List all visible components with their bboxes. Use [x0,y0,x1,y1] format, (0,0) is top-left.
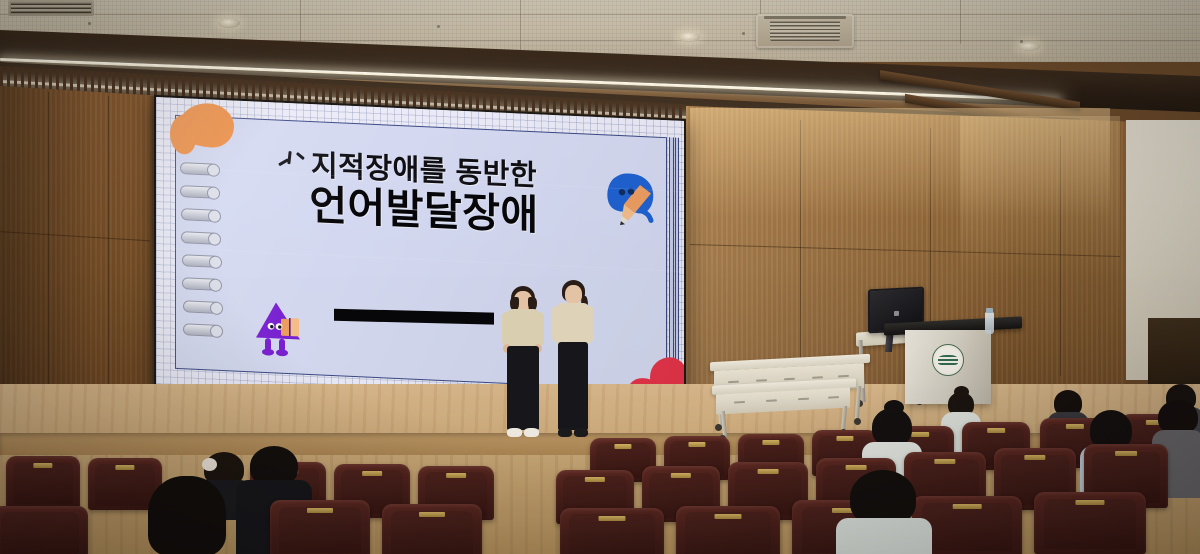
wall-panel-left [0,86,160,426]
ceiling-tile-seam [960,0,961,44]
ceiling-tile-seam [520,0,521,52]
purple-triangle-book-character-icon [252,297,314,358]
seat-number-plate [688,442,705,447]
presenter-pants [507,346,539,430]
audience-member [142,476,234,554]
wall-panel-seam [108,96,109,408]
seat-number-plate [446,473,466,478]
ceiling-fixture-dot [1020,40,1023,43]
presenter-shoe [524,428,539,437]
presenter-arm [502,312,511,346]
audience-member [836,470,932,554]
ceiling-fixture-dot [88,22,91,25]
seat-number-plate [307,508,333,513]
seat-number-plate [614,444,631,449]
projection-screen: 지적장애를 동반한 언어발달장애 [154,95,686,410]
auditorium-seat[interactable] [676,506,780,554]
doorway-dark [1148,318,1200,392]
slide-surface: 지적장애를 동반한 언어발달장애 [156,97,684,408]
wall-panel-seam [48,92,49,410]
spiral-ring-icon [183,300,221,314]
seat-number-plate [1075,500,1104,505]
seat-number-plate [758,469,779,474]
seat-number-plate [714,514,741,519]
auditorium-seat[interactable] [382,504,482,554]
auditorium-seat[interactable] [560,508,664,554]
seat-number-plate [585,477,605,482]
seat-number-plate [836,436,853,441]
page-edge-line [675,138,679,392]
ceiling-fixture-dot [742,32,745,35]
downlight-icon [1018,42,1040,51]
auditorium-seat[interactable] [1034,492,1146,554]
seat-number-plate [419,512,445,517]
seat-number-plate [33,463,52,468]
presenter-arm [585,306,594,342]
wall-panel-seam [1060,136,1061,376]
presenter-left [500,286,546,440]
seat-number-plate [762,440,779,445]
folding-table [712,382,856,432]
seat-number-plate [934,459,955,464]
presenter-shoe [574,428,588,437]
seat-number-plate [1115,451,1137,456]
downlight-icon [678,32,700,42]
presenter-arm [552,306,561,342]
auditorium-seat[interactable] [270,500,370,554]
ceiling-fixture-dot [437,25,440,28]
presenter-shoe [507,428,522,437]
seat-number-plate [1024,455,1045,460]
presenter-head [565,285,582,304]
ceiling-tile-seam [0,14,1200,15]
air-vent-icon [8,0,94,16]
presenter-arm [535,312,544,346]
page-edge-line [669,137,674,391]
auditorium-seat[interactable] [0,506,88,554]
seat-number-plate [598,516,625,521]
presenter-shoe [558,428,572,437]
university-crest-emblem-icon [932,344,964,376]
seat-number-plate [987,428,1005,433]
downlight-icon [218,18,240,28]
ac-cassette-icon [756,14,854,48]
auditorium-photo: 지적장애를 동반한 언어발달장애 [0,0,1200,554]
spiral-ring-icon [182,254,220,268]
spiral-ring-icon [183,323,221,337]
blue-blob-pencil-character-icon [598,169,660,230]
spiral-ring-icon [181,231,219,245]
seat-number-plate [362,471,382,476]
auditorium-seat[interactable] [6,456,80,508]
presenter-right [550,280,596,442]
spiral-ring-icon [182,277,220,291]
seat-number-plate [953,504,982,509]
seat-number-plate [671,473,691,478]
presenter-pants [558,342,588,430]
table-leg [721,411,727,437]
orange-corner-blob-icon [178,102,234,149]
seat-number-plate [115,465,134,470]
water-bottle [985,312,994,334]
